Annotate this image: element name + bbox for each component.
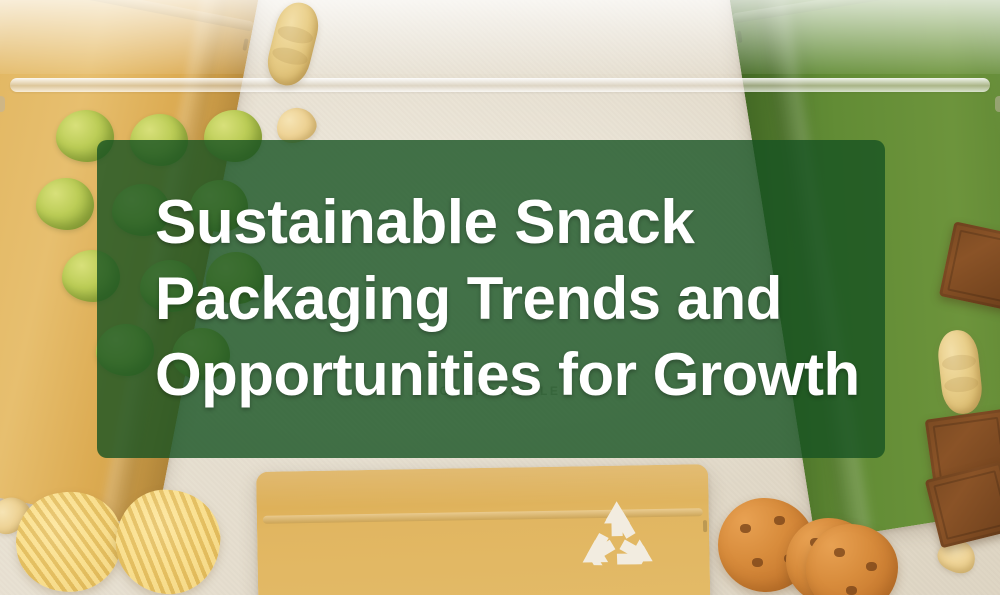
title-overlay-panel: Sustainable Snack Packaging Trends and O…: [97, 140, 885, 458]
page-title-line-2: Packaging Trends and: [155, 261, 829, 337]
cookie-chip: [752, 558, 763, 567]
pouch-zipper-seal: [10, 78, 308, 92]
cookie-chip: [866, 562, 877, 571]
page-title-line-3: Opportunities for Growth: [155, 337, 829, 413]
pouch-top-band: [0, 0, 308, 74]
hero-banner: COMPOSTABLE: [0, 0, 1000, 595]
cookie-chip: [740, 524, 751, 533]
pouch-tear-notch: [703, 520, 707, 532]
recycle-icon: [569, 495, 667, 589]
cookie-chip: [846, 586, 857, 595]
cookie-chip: [774, 516, 785, 525]
page-title-line-1: Sustainable Snack: [155, 185, 829, 261]
kraft-pouch-bottom: [256, 464, 712, 595]
green-candy-nut: [36, 178, 94, 230]
cookie-chip: [834, 548, 845, 557]
